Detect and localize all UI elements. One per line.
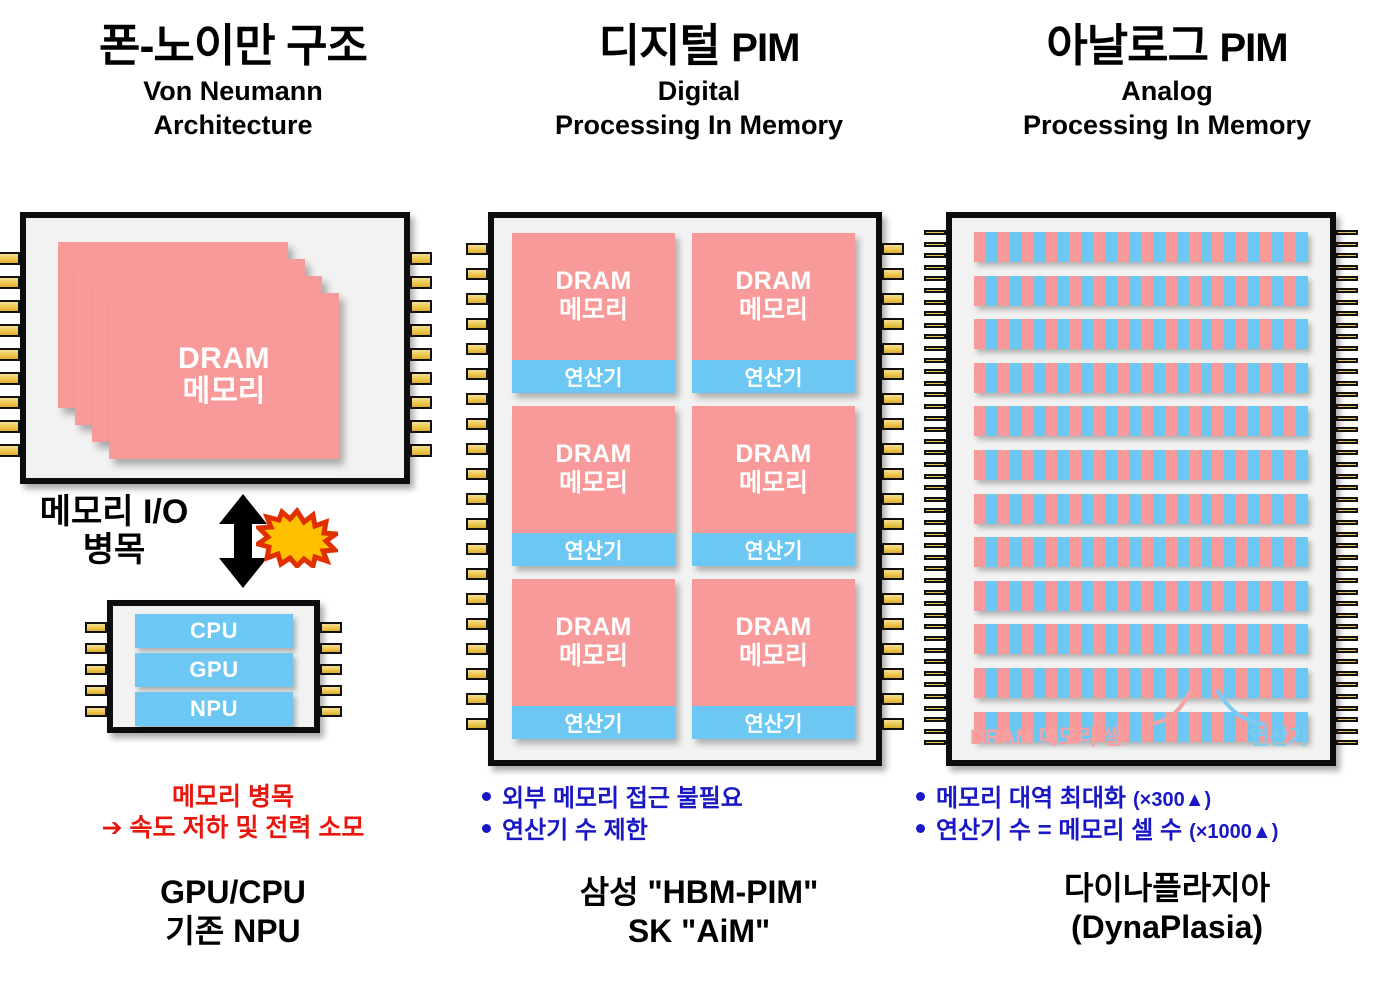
chip-pin <box>1336 671 1358 676</box>
operator-cell <box>1081 494 1093 524</box>
operator-cell <box>1057 624 1069 654</box>
operator-cell <box>1248 581 1260 611</box>
chip-pin <box>924 520 946 525</box>
chip-pin <box>1336 404 1358 409</box>
pim-tile: DRAM 메모리 연산기 <box>692 579 855 739</box>
dram-memory-cell <box>1284 276 1296 306</box>
dram-memory-cell <box>1117 537 1129 567</box>
dram-memory-cell <box>998 494 1010 524</box>
legend-label-dram-cell: DRAM 메모리 셀 <box>970 721 1122 751</box>
pim-tile: DRAM 메모리 연산기 <box>512 406 675 566</box>
dram-memory-cell <box>1022 232 1034 262</box>
operator-cell <box>1034 232 1046 262</box>
dram-memory-cell <box>1046 276 1058 306</box>
chip-pin <box>1336 369 1358 374</box>
operator-cell <box>1177 319 1189 349</box>
chip-pin <box>466 368 488 380</box>
chip-pin <box>924 334 946 339</box>
chip-pin <box>466 293 488 305</box>
dram-memory-cell <box>1165 624 1177 654</box>
operator-cell <box>1272 276 1284 306</box>
operator-cell <box>1296 624 1308 654</box>
pim-tile: DRAM 메모리 연산기 <box>512 579 675 739</box>
analog-pim-pins-right <box>1336 218 1358 760</box>
operator-cell <box>1129 668 1141 698</box>
operator-cell <box>1224 276 1236 306</box>
chip-pin <box>1336 358 1358 363</box>
chip-pin <box>85 706 107 717</box>
operator-cell <box>1034 450 1046 480</box>
column-1-caption-line-2: 기존 NPU <box>0 912 466 951</box>
bullet-item: 연산기 수 제한 <box>482 815 922 847</box>
operator-cell <box>1034 668 1046 698</box>
chip-pin <box>320 706 342 717</box>
analog-cell-row <box>974 232 1308 262</box>
dram-memory-cell <box>1236 276 1248 306</box>
chip-pin <box>1336 578 1358 583</box>
operator-cell <box>1177 276 1189 306</box>
dram-label-line-1: DRAM <box>178 342 270 375</box>
operator-cell <box>1010 624 1022 654</box>
pim-tile-label: DRAM 메모리 <box>692 233 855 360</box>
dram-memory-cell <box>1212 450 1224 480</box>
chip-pin <box>924 288 946 293</box>
operator-cell <box>1248 319 1260 349</box>
digital-pim-chip-package: DRAM 메모리 연산기 DRAM 메모리 연산기 DRAM <box>488 212 882 766</box>
pim-operator-label: 연산기 <box>565 362 623 392</box>
operator-cell <box>1129 581 1141 611</box>
chip-pin <box>1336 439 1358 444</box>
chip-pin <box>924 265 946 270</box>
chip-pin <box>924 590 946 595</box>
dram-memory-cell <box>1046 450 1058 480</box>
chip-pin <box>85 643 107 654</box>
dram-memory-cell <box>1046 624 1058 654</box>
operator-cell <box>1129 232 1141 262</box>
chip-pin <box>1336 276 1358 281</box>
chip-pin <box>466 443 488 455</box>
operator-cell <box>1105 319 1117 349</box>
operator-cell <box>1248 363 1260 393</box>
dram-memory-cell <box>1189 537 1201 567</box>
chip-pin <box>0 324 20 337</box>
dram-memory-cell <box>998 319 1010 349</box>
operator-cell <box>1057 276 1069 306</box>
column-1-title-korean: 폰-노이만 구조 <box>0 0 466 69</box>
column-1-subtitle: Von Neumann Architecture <box>0 75 466 142</box>
dram-memory-cell <box>1022 406 1034 436</box>
operator-cell <box>1201 450 1213 480</box>
operator-cell <box>1034 537 1046 567</box>
chip-pin <box>1336 462 1358 467</box>
dram-memory-cell <box>1260 276 1272 306</box>
column-3-subtitle-line-1: Analog <box>934 75 1400 108</box>
operator-cell <box>1248 406 1260 436</box>
chip-pin <box>924 508 946 513</box>
chip-pin <box>1336 450 1358 455</box>
pim-tile: DRAM 메모리 연산기 <box>692 406 855 566</box>
digital-pim-pins-right <box>882 218 904 760</box>
column-3-caption-line-1: 다이나플라지아 <box>934 869 1400 908</box>
operator-cell <box>1105 406 1117 436</box>
pim-operator-label: 연산기 <box>565 535 623 565</box>
column-2-bullets: 외부 메모리 접근 불필요 연산기 수 제한 <box>482 783 922 847</box>
dram-memory-cell <box>974 494 986 524</box>
chip-pin <box>0 444 20 457</box>
dram-memory-cell <box>1165 319 1177 349</box>
dram-memory-cell <box>1046 668 1058 698</box>
chip-pin <box>320 643 342 654</box>
dram-memory-cell <box>1069 363 1081 393</box>
operator-cell <box>1248 276 1260 306</box>
column-3-title-hangul: 아날로그 <box>1046 20 1208 71</box>
dram-memory-cell <box>1284 450 1296 480</box>
chip-pin <box>466 493 488 505</box>
chip-pin <box>0 252 20 265</box>
operator-cell <box>986 319 998 349</box>
dram-memory-cell <box>1046 406 1058 436</box>
dram-memory-cell <box>1022 581 1034 611</box>
dram-memory-cell <box>1165 363 1177 393</box>
dram-memory-cell <box>1212 581 1224 611</box>
dram-memory-cell <box>1069 319 1081 349</box>
analog-cell-row <box>974 494 1308 524</box>
pim-operator-bar: 연산기 <box>512 706 675 739</box>
operator-cell <box>1010 363 1022 393</box>
pim-operator-bar: 연산기 <box>692 706 855 739</box>
operator-cell <box>1272 406 1284 436</box>
dram-memory-cell <box>1284 319 1296 349</box>
pim-operator-label: 연산기 <box>745 535 803 565</box>
chip-pin <box>1336 590 1358 595</box>
dram-memory-cell <box>1284 232 1296 262</box>
chip-pin <box>882 268 904 280</box>
pim-operator-bar: 연산기 <box>512 360 675 393</box>
chip-pin <box>466 418 488 430</box>
dram-memory-cell <box>974 276 986 306</box>
dram-memory-cell <box>1284 624 1296 654</box>
column-1-note: 메모리 병목 ➔ 속도 저하 및 전력 소모 <box>0 782 466 843</box>
dram-memory-cell <box>974 232 986 262</box>
chip-pin <box>924 404 946 409</box>
column-3-bullets: 메모리 대역 최대화 (×300▲) 연산기 수 = 메모리 셀 수 (×100… <box>916 783 1400 847</box>
operator-cell <box>986 276 998 306</box>
dram-memory-cell <box>1260 406 1272 436</box>
operator-cell <box>1272 232 1284 262</box>
pim-tile-label: DRAM 메모리 <box>692 406 855 533</box>
chip-pin <box>924 694 946 699</box>
operator-cell <box>1272 668 1284 698</box>
dram-memory-cell <box>974 406 986 436</box>
column-2-subtitle-line-1: Digital <box>466 75 932 108</box>
pim-operator-label: 연산기 <box>745 362 803 392</box>
chip-pin <box>1336 346 1358 351</box>
chip-pin <box>924 555 946 560</box>
operator-cell <box>1105 494 1117 524</box>
processor-chip-pins-right <box>320 606 342 727</box>
pim-operator-label: 연산기 <box>565 708 623 738</box>
operator-cell <box>1057 668 1069 698</box>
chip-pin <box>924 450 946 455</box>
operator-cell <box>1105 537 1117 567</box>
chip-pin <box>924 346 946 351</box>
legend-leader-lines <box>1147 688 1267 738</box>
analog-cell-row <box>974 406 1308 436</box>
pim-tile-label-line-1: DRAM <box>735 614 811 642</box>
chip-pin <box>1336 636 1358 641</box>
dram-memory-cell <box>1093 624 1105 654</box>
operator-cell <box>1296 668 1308 698</box>
chip-pin <box>924 543 946 548</box>
operator-cell <box>1129 363 1141 393</box>
dram-memory-cell <box>1189 450 1201 480</box>
operator-cell <box>1081 363 1093 393</box>
operator-cell <box>1177 232 1189 262</box>
dram-memory-cell <box>974 624 986 654</box>
operator-cell <box>986 450 998 480</box>
dram-memory-cell <box>1069 537 1081 567</box>
pim-tile-label-line-2: 메모리 <box>559 296 628 325</box>
dram-memory-cell <box>1260 450 1272 480</box>
operator-cell <box>986 494 998 524</box>
operator-cell <box>1201 537 1213 567</box>
operator-cell <box>1272 494 1284 524</box>
operator-cell <box>1248 537 1260 567</box>
chip-pin <box>924 381 946 386</box>
operator-cell <box>986 406 998 436</box>
chip-pin <box>924 462 946 467</box>
dram-memory-cell <box>1189 319 1201 349</box>
operator-cell <box>1296 406 1308 436</box>
chip-pin <box>882 718 904 730</box>
digital-pim-pins-left <box>466 218 488 760</box>
operator-cell <box>1248 624 1260 654</box>
operator-cell <box>1272 363 1284 393</box>
operator-cell <box>1224 232 1236 262</box>
chip-pin <box>882 543 904 555</box>
column-2-title-latin: PIM <box>731 26 799 70</box>
operator-cell <box>1081 537 1093 567</box>
pim-tile-label-line-1: DRAM <box>555 441 631 469</box>
dram-memory-cell <box>1069 624 1081 654</box>
chip-pin <box>924 566 946 571</box>
chip-pin <box>1336 230 1358 235</box>
dram-memory-cell <box>1093 276 1105 306</box>
operator-cell <box>1057 363 1069 393</box>
dram-memory-cell <box>1069 406 1081 436</box>
operator-cell <box>1105 450 1117 480</box>
dram-memory-cell <box>1141 232 1153 262</box>
operator-cell <box>1034 494 1046 524</box>
dram-memory-cell <box>1117 276 1129 306</box>
operator-cell <box>1010 276 1022 306</box>
pim-tile-label-line-2: 메모리 <box>739 642 808 671</box>
chip-pin <box>1336 520 1358 525</box>
dram-memory-cell <box>1212 494 1224 524</box>
chip-pin <box>0 372 20 385</box>
operator-cell <box>1081 624 1093 654</box>
column-2-caption: 삼성 "HBM-PIM" SK "AiM" <box>466 873 932 951</box>
dram-memory-cell <box>974 668 986 698</box>
dram-memory-cell <box>1284 668 1296 698</box>
dram-memory-cell <box>1189 232 1201 262</box>
dram-memory-cell <box>1165 494 1177 524</box>
chip-pin <box>0 300 20 313</box>
dram-memory-cell <box>1069 668 1081 698</box>
column-von-neumann: 폰-노이만 구조 Von Neumann Architecture <box>0 0 466 994</box>
operator-cell <box>1105 276 1117 306</box>
dram-memory-cell <box>1141 363 1153 393</box>
chip-pin <box>882 593 904 605</box>
chip-pin <box>1336 265 1358 270</box>
chip-pin <box>85 664 107 675</box>
chip-pin <box>1336 740 1358 745</box>
dram-memory-cell <box>1236 624 1248 654</box>
chip-pin <box>882 518 904 530</box>
memory-chip-package: DRAM 메모리 <box>20 212 410 484</box>
operator-cell <box>1034 581 1046 611</box>
operator-cell <box>1081 668 1093 698</box>
pim-tile-label-line-2: 메모리 <box>739 296 808 325</box>
dram-memory-cell <box>1260 624 1272 654</box>
operator-cell <box>1105 232 1117 262</box>
analog-cell-row <box>974 363 1308 393</box>
operator-cell <box>1081 581 1093 611</box>
operator-cell <box>1057 494 1069 524</box>
operator-cell <box>1272 537 1284 567</box>
dram-memory-cell <box>1284 363 1296 393</box>
analog-cell-row <box>974 319 1308 349</box>
column-3-subtitle: Analog Processing In Memory <box>934 75 1400 142</box>
operator-cell <box>1010 668 1022 698</box>
dram-memory-cell <box>998 624 1010 654</box>
processor-chip-pins-left <box>85 606 107 727</box>
processor-block-cpu: CPU <box>135 614 293 648</box>
pim-tile: DRAM 메모리 연산기 <box>512 233 675 393</box>
operator-cell <box>1057 450 1069 480</box>
operator-cell <box>986 232 998 262</box>
chip-pin <box>1336 323 1358 328</box>
memory-io-bottleneck-label: 메모리 I/O 병목 <box>14 493 214 569</box>
dram-memory-cell <box>1189 276 1201 306</box>
bullet-item: 메모리 대역 최대화 (×300▲) <box>916 783 1400 815</box>
operator-cell <box>1153 232 1165 262</box>
chip-pin <box>85 622 107 633</box>
dram-memory-cell <box>1189 494 1201 524</box>
dram-memory-cell <box>1093 232 1105 262</box>
chip-pin <box>924 740 946 745</box>
dram-memory-cell <box>998 232 1010 262</box>
chip-pin <box>1336 601 1358 606</box>
dram-memory-cell <box>998 276 1010 306</box>
operator-cell <box>1105 581 1117 611</box>
bottleneck-label-line-1: 메모리 I/O <box>14 493 214 531</box>
column-digital-pim: 디지털 PIM Digital Processing In Memory <box>466 0 932 994</box>
chip-pin <box>466 393 488 405</box>
operator-cell <box>1224 494 1236 524</box>
column-3-caption: 다이나플라지아 (DynaPlasia) <box>934 869 1400 947</box>
dram-memory-cell <box>1189 581 1201 611</box>
dram-memory-cell <box>1212 319 1224 349</box>
chip-pin <box>320 622 342 633</box>
dram-memory-cell <box>998 363 1010 393</box>
dram-memory-cell <box>1117 624 1129 654</box>
chip-pin <box>466 643 488 655</box>
operator-cell <box>1129 319 1141 349</box>
operator-cell <box>1153 450 1165 480</box>
dram-memory-cell <box>1141 494 1153 524</box>
column-2-title-korean: 디지털 PIM <box>466 0 932 69</box>
operator-cell <box>1010 406 1022 436</box>
operator-cell <box>1224 537 1236 567</box>
column-1-caption: GPU/CPU 기존 NPU <box>0 873 466 951</box>
dram-memory-cell <box>1236 537 1248 567</box>
operator-cell <box>1129 276 1141 306</box>
operator-cell <box>1034 363 1046 393</box>
dram-memory-cell <box>1141 624 1153 654</box>
dram-memory-cell <box>1022 363 1034 393</box>
pim-tile-label-line-1: DRAM <box>735 268 811 296</box>
operator-cell <box>1248 494 1260 524</box>
pim-tile-label-line-1: DRAM <box>555 614 631 642</box>
operator-cell <box>1129 712 1141 742</box>
dram-memory-cell <box>974 319 986 349</box>
chip-pin <box>0 396 20 409</box>
operator-cell <box>1153 363 1165 393</box>
dram-memory-cell <box>1046 319 1058 349</box>
operator-cell <box>1201 319 1213 349</box>
chip-pin <box>924 242 946 247</box>
dram-memory-cell <box>1069 232 1081 262</box>
chip-pin <box>1336 613 1358 618</box>
chip-pin <box>924 717 946 722</box>
chip-pin <box>924 439 946 444</box>
chip-pin <box>410 444 432 457</box>
column-2-subtitle-line-2: Processing In Memory <box>466 109 932 142</box>
operator-cell <box>1057 406 1069 436</box>
dram-memory-cell <box>1165 406 1177 436</box>
chip-pin <box>466 518 488 530</box>
operator-cell <box>1057 319 1069 349</box>
operator-cell <box>1081 450 1093 480</box>
dram-memory-cell <box>1046 363 1058 393</box>
operator-cell <box>986 624 998 654</box>
operator-cell <box>1272 450 1284 480</box>
operator-cell <box>1201 581 1213 611</box>
chip-pin <box>924 416 946 421</box>
bottleneck-label-line-2: 병목 <box>14 531 214 569</box>
chip-pin <box>924 671 946 676</box>
dram-memory-cell <box>1212 406 1224 436</box>
operator-cell <box>986 537 998 567</box>
dram-memory-cell <box>1236 494 1248 524</box>
dram-memory-cell <box>1022 537 1034 567</box>
bullet-dot-icon <box>916 792 925 801</box>
operator-cell <box>1081 319 1093 349</box>
pim-tile-label: DRAM 메모리 <box>512 406 675 533</box>
bottleneck-burst-icon <box>256 506 338 568</box>
chip-pin <box>1336 497 1358 502</box>
dram-memory-cell <box>1165 276 1177 306</box>
dram-memory-cell <box>1260 319 1272 349</box>
dram-memory-cell <box>1069 494 1081 524</box>
operator-cell <box>1201 494 1213 524</box>
dram-memory-cell <box>1046 581 1058 611</box>
pim-operator-bar: 연산기 <box>512 533 675 566</box>
chip-pin <box>924 706 946 711</box>
dram-label-line-2: 메모리 <box>183 375 266 410</box>
operator-cell <box>1177 450 1189 480</box>
